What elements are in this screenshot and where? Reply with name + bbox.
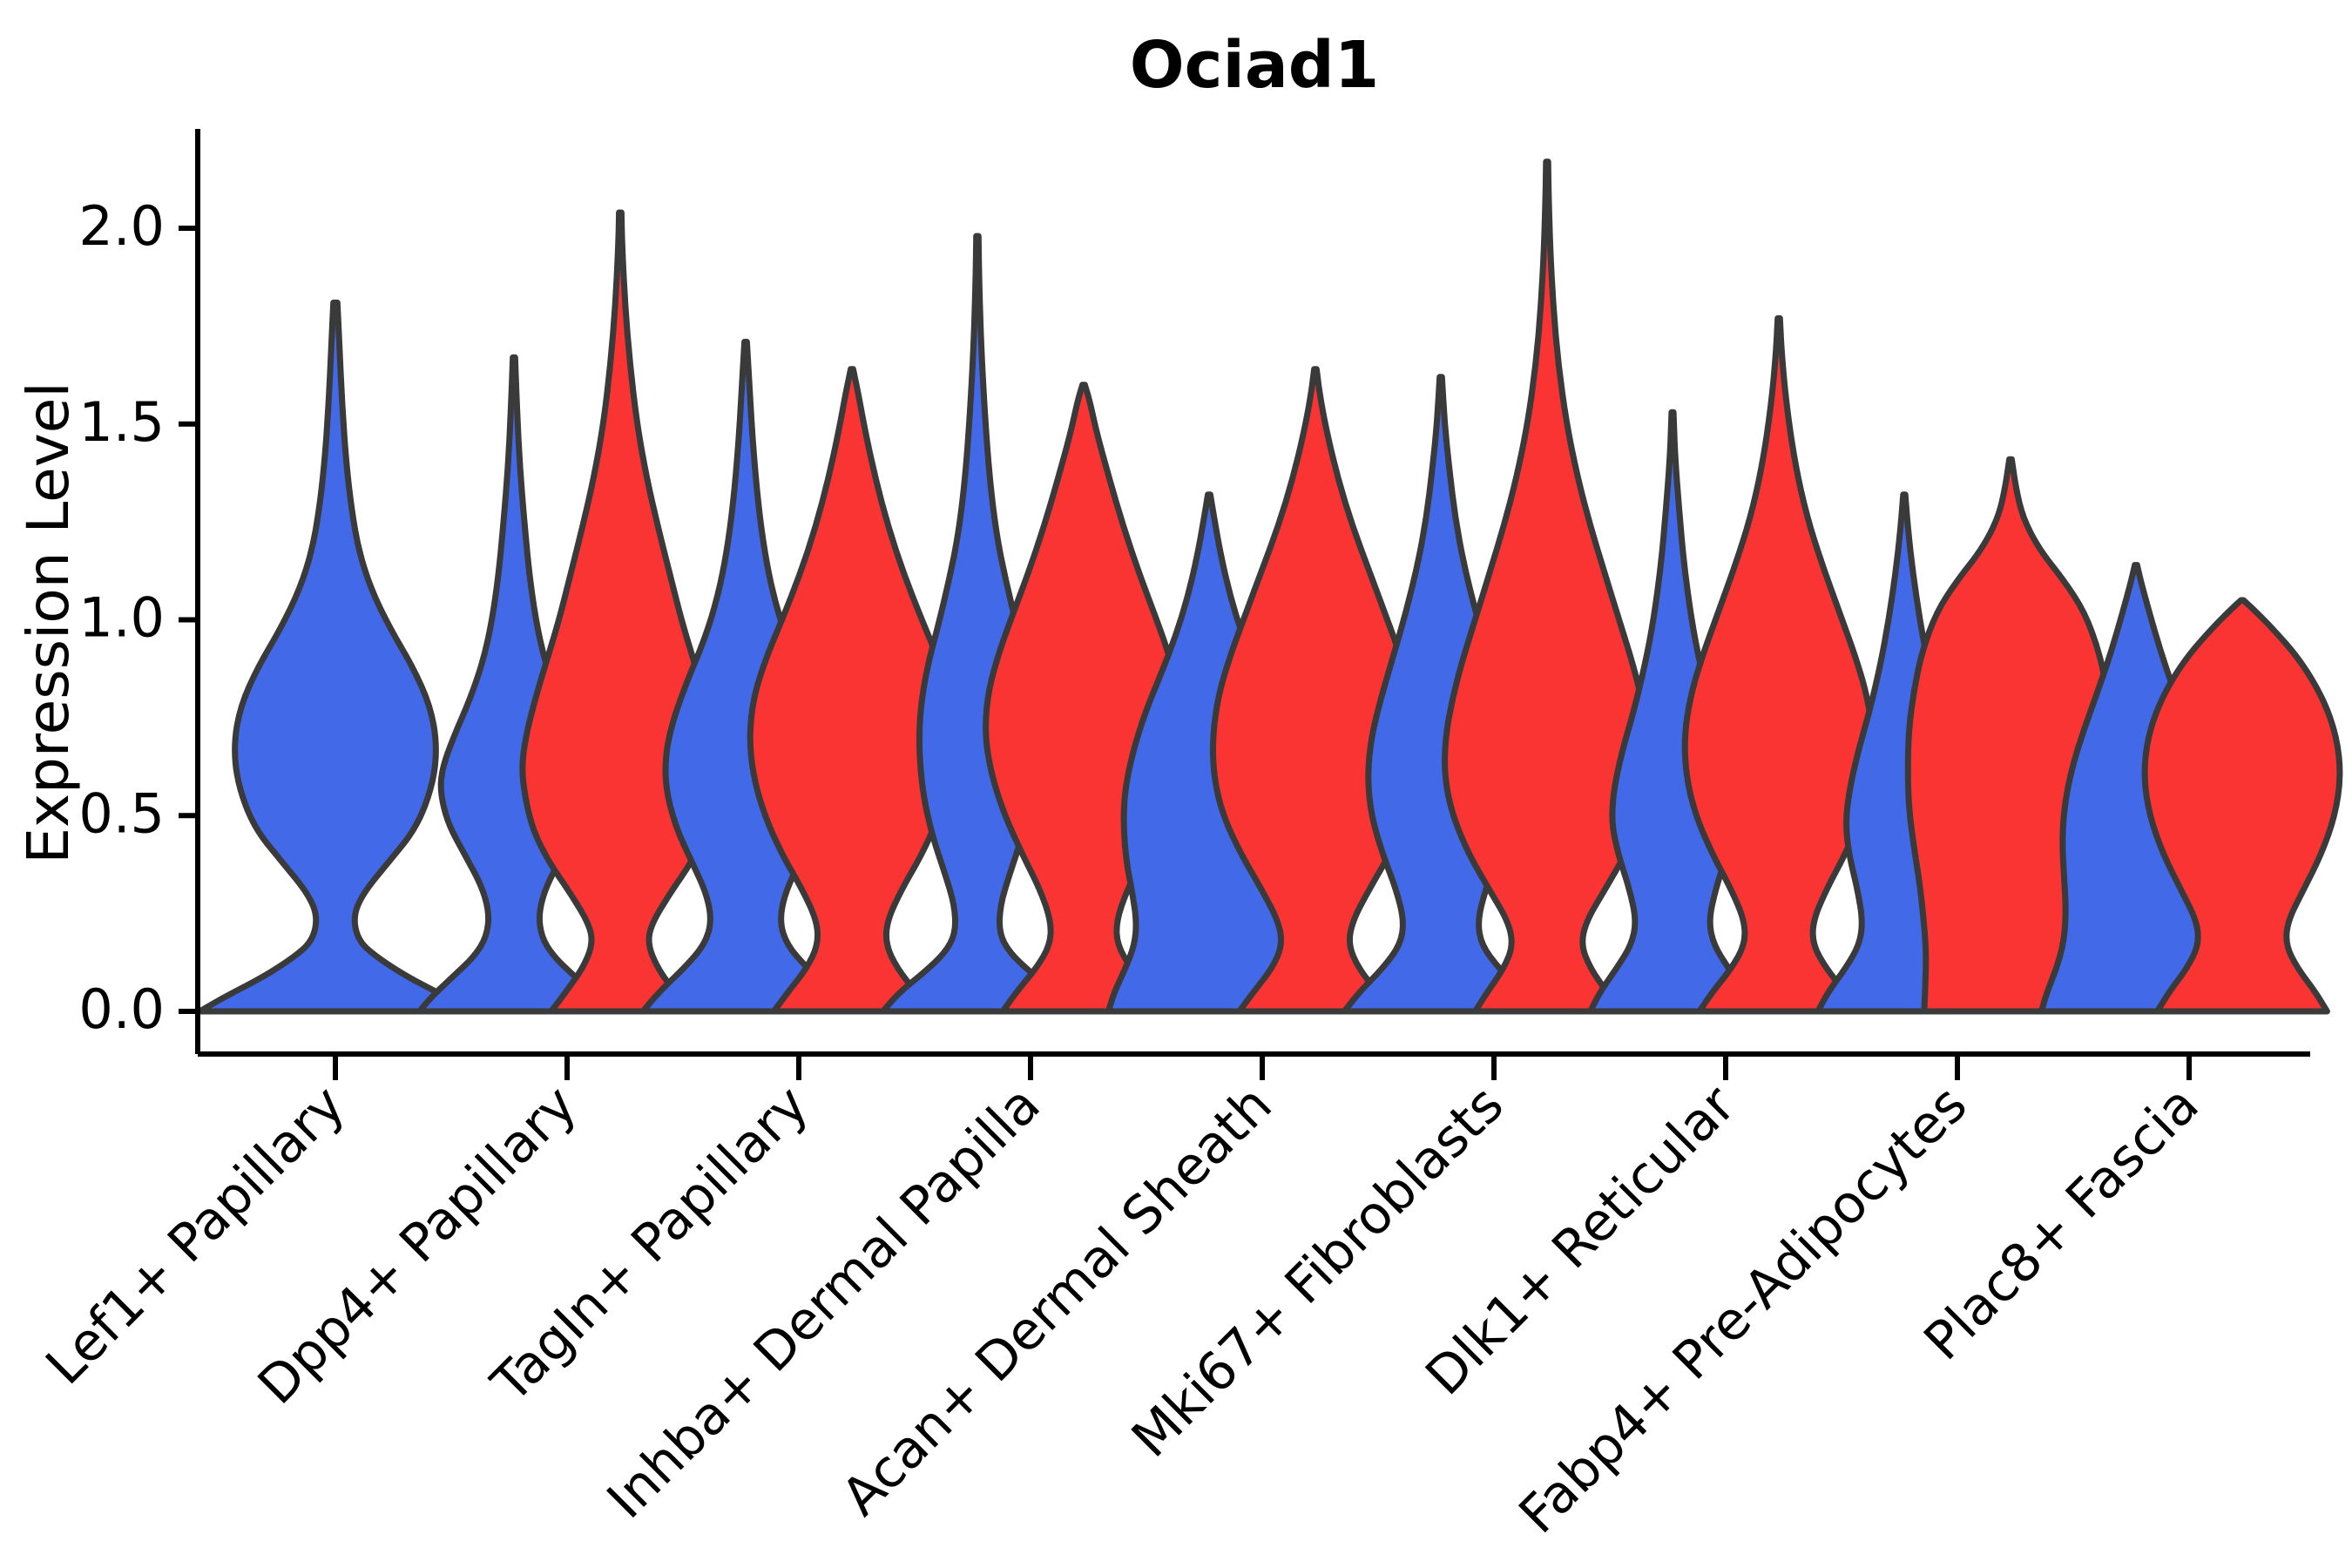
plot-canvas: Ociad1 0.00.51.01.52.0 Lef1+ PapillaryDp… (0, 0, 2352, 1568)
y-tick-label-3: 1.5 (78, 390, 165, 454)
x-tick-label-3: Inhba+ Dermal Papilla (596, 1074, 1052, 1531)
violins-layer (199, 162, 2340, 1011)
x-tick-label-5: Mki67+ Fibroblasts (1120, 1074, 1516, 1470)
chart-title: Ociad1 (1130, 28, 1380, 103)
y-tick-label-1: 0.5 (78, 781, 165, 845)
x-tick-label-7: Fabp4+ Pre-Adipocytes (1508, 1074, 1979, 1545)
violin-plot-figure: Ociad1 0.00.51.01.52.0 Lef1+ PapillaryDp… (0, 0, 2352, 1568)
y-tick-labels: 0.00.51.01.52.0 (78, 194, 165, 1041)
x-tick-labels: Lef1+ PapillaryDpp4+ PapillaryTagIn+ Pap… (35, 1074, 2211, 1545)
title-group: Ociad1 (1130, 28, 1380, 103)
y-axis-title: Expression Level (15, 382, 82, 863)
violin-blue-0 (199, 302, 471, 1011)
y-tick-label-4: 2.0 (78, 194, 165, 258)
y-axis-title-group: Expression Level (15, 382, 82, 863)
x-tick-label-4: Acan+ Dermal Sheath (830, 1074, 1284, 1528)
y-tick-label-2: 1.0 (78, 586, 165, 650)
violin-red-1 (523, 213, 718, 1011)
y-tick-label-0: 0.0 (78, 977, 165, 1041)
